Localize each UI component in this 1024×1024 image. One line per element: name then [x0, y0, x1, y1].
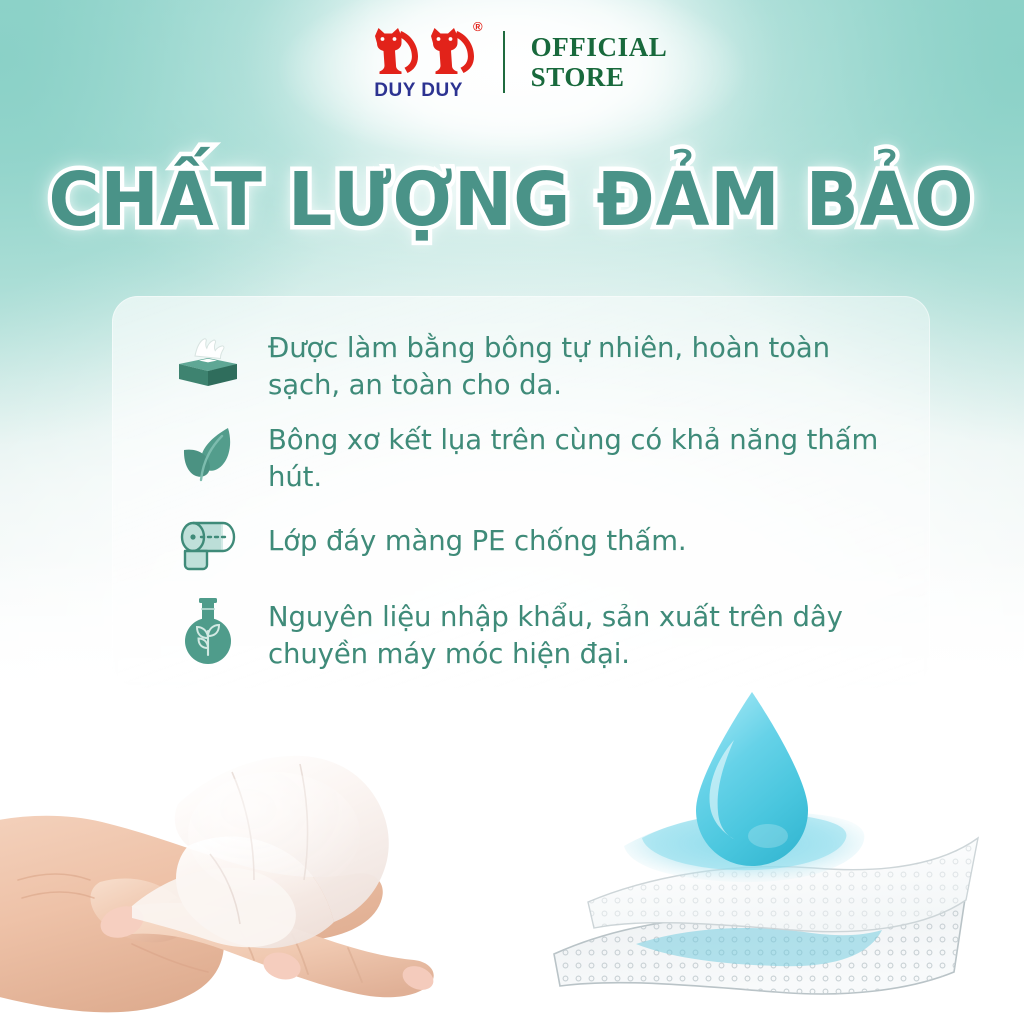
product-photo-band: [0, 684, 1024, 1024]
list-item: Nguyên liệu nhập khẩu, sản xuất trên dây…: [172, 595, 892, 673]
brand-header: ® DUY DUY OFFICIAL STORE: [0, 18, 1024, 106]
registered-trademark-icon: ®: [473, 20, 483, 33]
list-item: Được làm bằng bông tự nhiên, hoàn toàn s…: [172, 326, 892, 404]
feature-text: Lớp đáy màng PE chống thấm.: [268, 509, 892, 560]
feature-list: Được làm bằng bông tự nhiên, hoàn toàn s…: [172, 326, 892, 673]
brand-name: DUY DUY: [374, 80, 463, 102]
two-leaves-icon: [172, 418, 244, 490]
two-red-cats-icon: ®: [363, 22, 475, 78]
list-item: Lớp đáy màng PE chống thấm.: [172, 509, 892, 581]
feature-text: Nguyên liệu nhập khẩu, sản xuất trên dây…: [268, 595, 892, 673]
page-title: CHẤT LƯỢNG ĐẢM BẢO: [49, 163, 975, 237]
water-droplet-on-absorbent-sheet-photo: [546, 686, 1016, 1016]
flask-with-sprout-icon: [172, 595, 244, 667]
list-item: Bông xơ kết lụa trên cùng có khả năng th…: [172, 418, 892, 496]
feature-text: Bông xơ kết lụa trên cùng có khả năng th…: [268, 418, 892, 496]
official-store-label: OFFICIAL STORE: [531, 32, 668, 92]
logo-divider: [503, 31, 505, 93]
official-store-line-2: STORE: [531, 62, 668, 92]
official-store-line-1: OFFICIAL: [531, 32, 668, 62]
paper-roll-icon: [172, 509, 244, 581]
tissue-box-icon: [172, 326, 244, 398]
feature-text: Được làm bằng bông tự nhiên, hoàn toàn s…: [268, 326, 892, 404]
headline-container: CHẤT LƯỢNG ĐẢM BẢO: [0, 150, 1024, 250]
hands-holding-tissue-photo: [0, 684, 502, 1024]
poster-canvas: ® DUY DUY OFFICIAL STORE CHẤT LƯỢNG ĐẢM …: [0, 0, 1024, 1024]
brand-logo: ® DUY DUY: [357, 22, 481, 102]
